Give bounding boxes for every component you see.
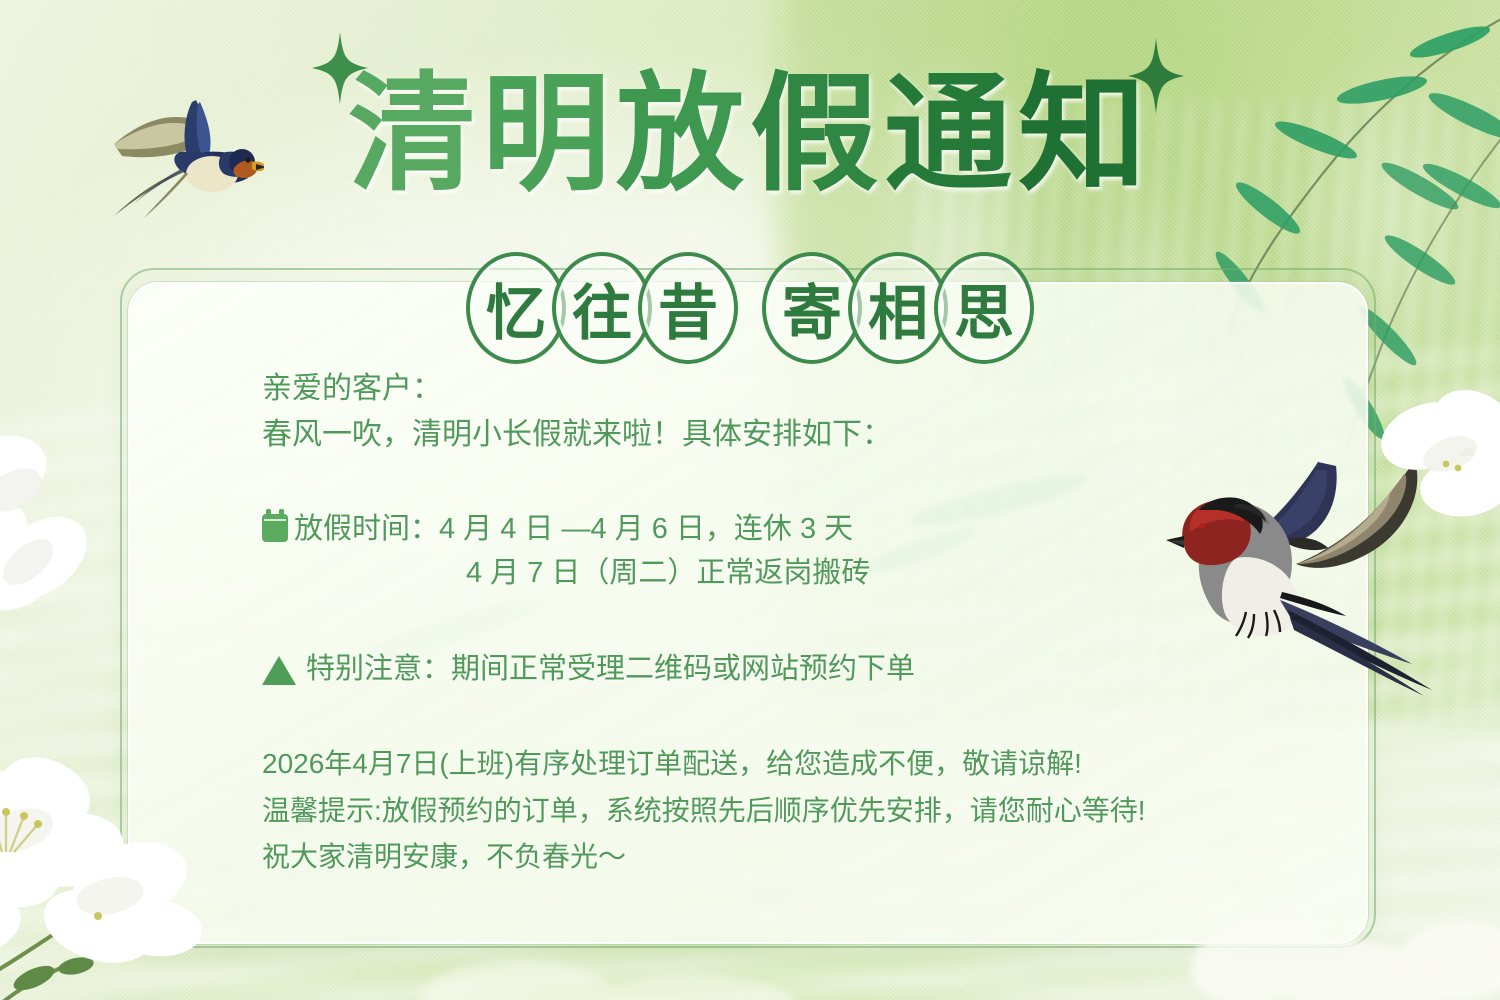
title-char-1: 清	[348, 62, 482, 209]
swallow-bird-left	[84, 56, 264, 221]
footer-line-3: 祝大家清明安康，不负春光～	[262, 834, 1262, 880]
schedule-block: 放假时间：4 月 4 日 —4 月 6 日，连休 3 天 4 月 7 日（周二）…	[262, 507, 1262, 595]
subtitle-group-2: 寄 相 思	[769, 252, 1027, 364]
notice-block: 特别注意：期间正常受理二维码或网站预约下单	[262, 647, 1262, 691]
subtitle-char-oval: 相	[848, 252, 948, 364]
title-char-4: 假	[750, 62, 884, 209]
title-char-6: 知	[1018, 62, 1152, 209]
poster-root: 清明放假通知 忆 往 昔 寄 相 思 亲爱的客户： 春风一吹，清明小长假就来啦！…	[0, 0, 1500, 1000]
title-char-3: 放	[616, 62, 750, 209]
intro-line: 春风一吹，清明小长假就来啦！具体安排如下：	[262, 412, 1262, 458]
subtitle-char-oval: 昔	[638, 252, 738, 364]
greeting-line: 亲爱的客户：	[262, 366, 1262, 412]
footer-line-2: 温馨提示:放假预约的订单，系统按照先后顺序优先安排，请您耐心等待!	[262, 788, 1262, 834]
subtitle-group-1: 忆 往 昔	[473, 252, 731, 364]
warning-triangle-icon	[262, 656, 296, 685]
schedule-line-2: 4 月 7 日（周二）正常返岗搬砖	[466, 551, 870, 595]
subtitle-char-oval: 思	[934, 252, 1034, 364]
title-char-2: 明	[482, 62, 616, 209]
pear-blossom-left-upper	[0, 430, 196, 670]
calendar-icon	[262, 514, 288, 542]
footer-block: 2026年4月7日(上班)有序处理订单配送，给您造成不便，敬请谅解! 温馨提示:…	[262, 741, 1262, 880]
pear-blossom-left-lower	[0, 730, 250, 1000]
subtitle-char-oval: 寄	[762, 252, 862, 364]
pear-blossom-right	[1370, 380, 1500, 600]
title-char-5: 通	[884, 62, 1018, 209]
subtitle: 忆 往 昔 寄 相 思	[0, 252, 1500, 364]
schedule-line-1: 放假时间：4 月 4 日 —4 月 6 日，连休 3 天	[294, 507, 853, 551]
schedule-row-1: 放假时间：4 月 4 日 —4 月 6 日，连休 3 天	[262, 507, 1262, 551]
subtitle-char-oval: 往	[552, 252, 652, 364]
footer-line-1: 2026年4月7日(上班)有序处理订单配送，给您造成不便，敬请谅解!	[262, 741, 1262, 787]
pear-blossom-bottom-center	[420, 930, 820, 1000]
notice-text: 特别注意：期间正常受理二维码或网站预约下单	[306, 647, 915, 691]
pear-blossom-bottom-right	[1190, 890, 1500, 1000]
notice-body: 亲爱的客户： 春风一吹，清明小长假就来啦！具体安排如下： 放假时间：4 月 4 …	[262, 366, 1262, 881]
subtitle-char-oval: 忆	[466, 252, 566, 364]
